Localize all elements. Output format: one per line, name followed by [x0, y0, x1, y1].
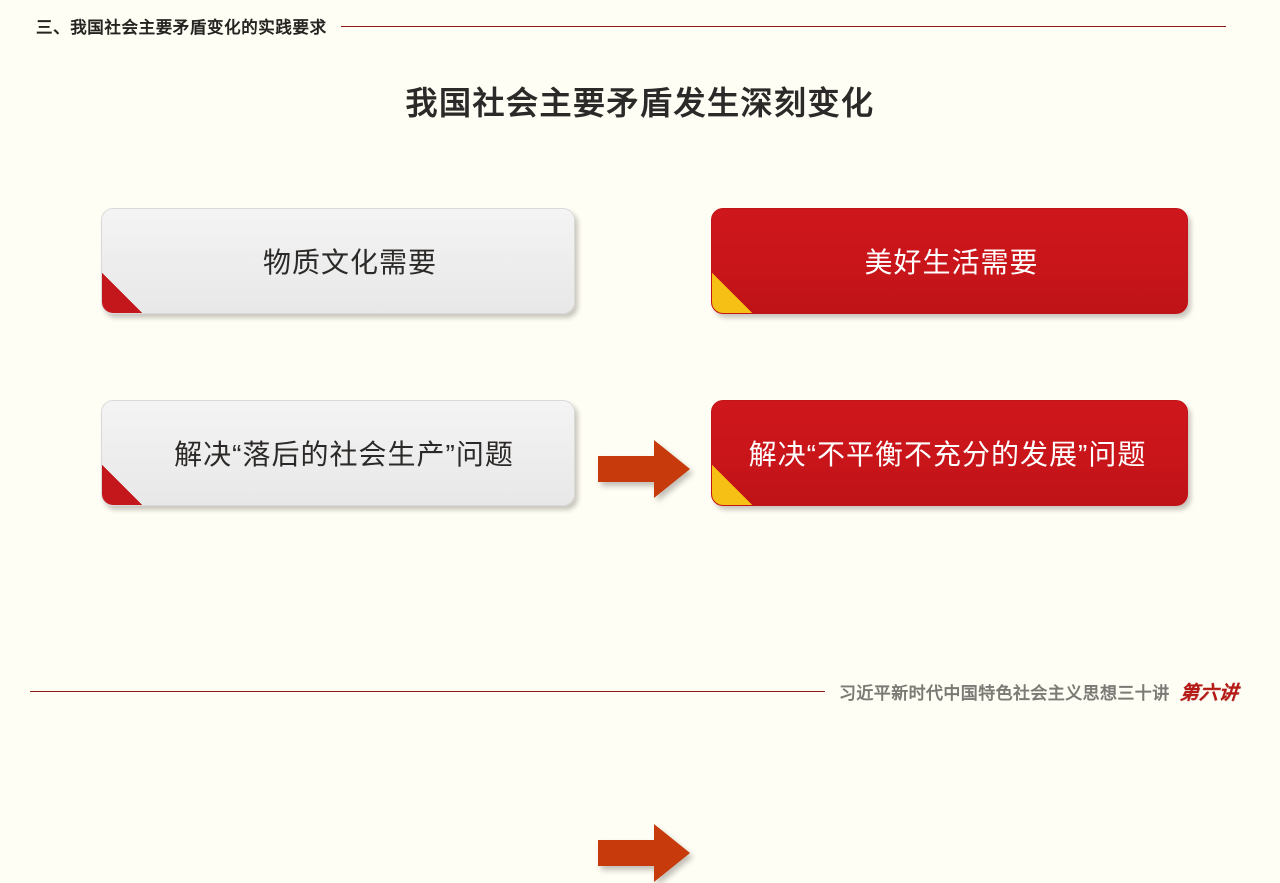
comparison-row-1: 物质文化需要 美好生活需要 [0, 208, 1280, 314]
new-contradiction-label-2: 解决“不平衡不充分的发展”问题 [749, 433, 1147, 473]
transition-arrow-2 [598, 823, 690, 883]
new-contradiction-box-2[interactable]: 解决“不平衡不充分的发展”问题 [711, 400, 1188, 506]
section-heading: 三、我国社会主要矛盾变化的实践要求 [36, 14, 327, 38]
footer-series-title: 习近平新时代中国特色社会主义思想三十讲 [839, 679, 1170, 704]
old-contradiction-box-1[interactable]: 物质文化需要 [101, 208, 575, 314]
gold-corner-flash-icon [712, 273, 752, 313]
footer-divider-line [30, 691, 825, 692]
old-contradiction-box-2[interactable]: 解决“落后的社会生产”问题 [101, 400, 575, 506]
footer-lecture-badge: 第六讲 [1178, 678, 1239, 705]
old-contradiction-label-1: 物质文化需要 [263, 241, 437, 281]
new-contradiction-label-1: 美好生活需要 [864, 241, 1038, 281]
slide-canvas: 三、我国社会主要矛盾变化的实践要求 我国社会主要矛盾发生深刻变化 物质文化需要 … [0, 0, 1280, 720]
page-title: 我国社会主要矛盾发生深刻变化 [0, 78, 1280, 124]
header-divider-line [341, 26, 1226, 27]
slide-footer: 习近平新时代中国特色社会主义思想三十讲 第六讲 [0, 662, 1280, 720]
comparison-row-2: 解决“落后的社会生产”问题 解决“不平衡不充分的发展”问题 [0, 400, 1280, 506]
red-corner-flash-icon [102, 465, 142, 505]
gold-corner-flash-icon [712, 465, 752, 505]
old-contradiction-label-2: 解决“落后的社会生产”问题 [174, 433, 514, 473]
right-arrow-icon [598, 824, 690, 882]
red-corner-flash-icon [102, 273, 142, 313]
slide-header: 三、我国社会主要矛盾变化的实践要求 [0, 10, 1280, 42]
new-contradiction-box-1[interactable]: 美好生活需要 [711, 208, 1188, 314]
